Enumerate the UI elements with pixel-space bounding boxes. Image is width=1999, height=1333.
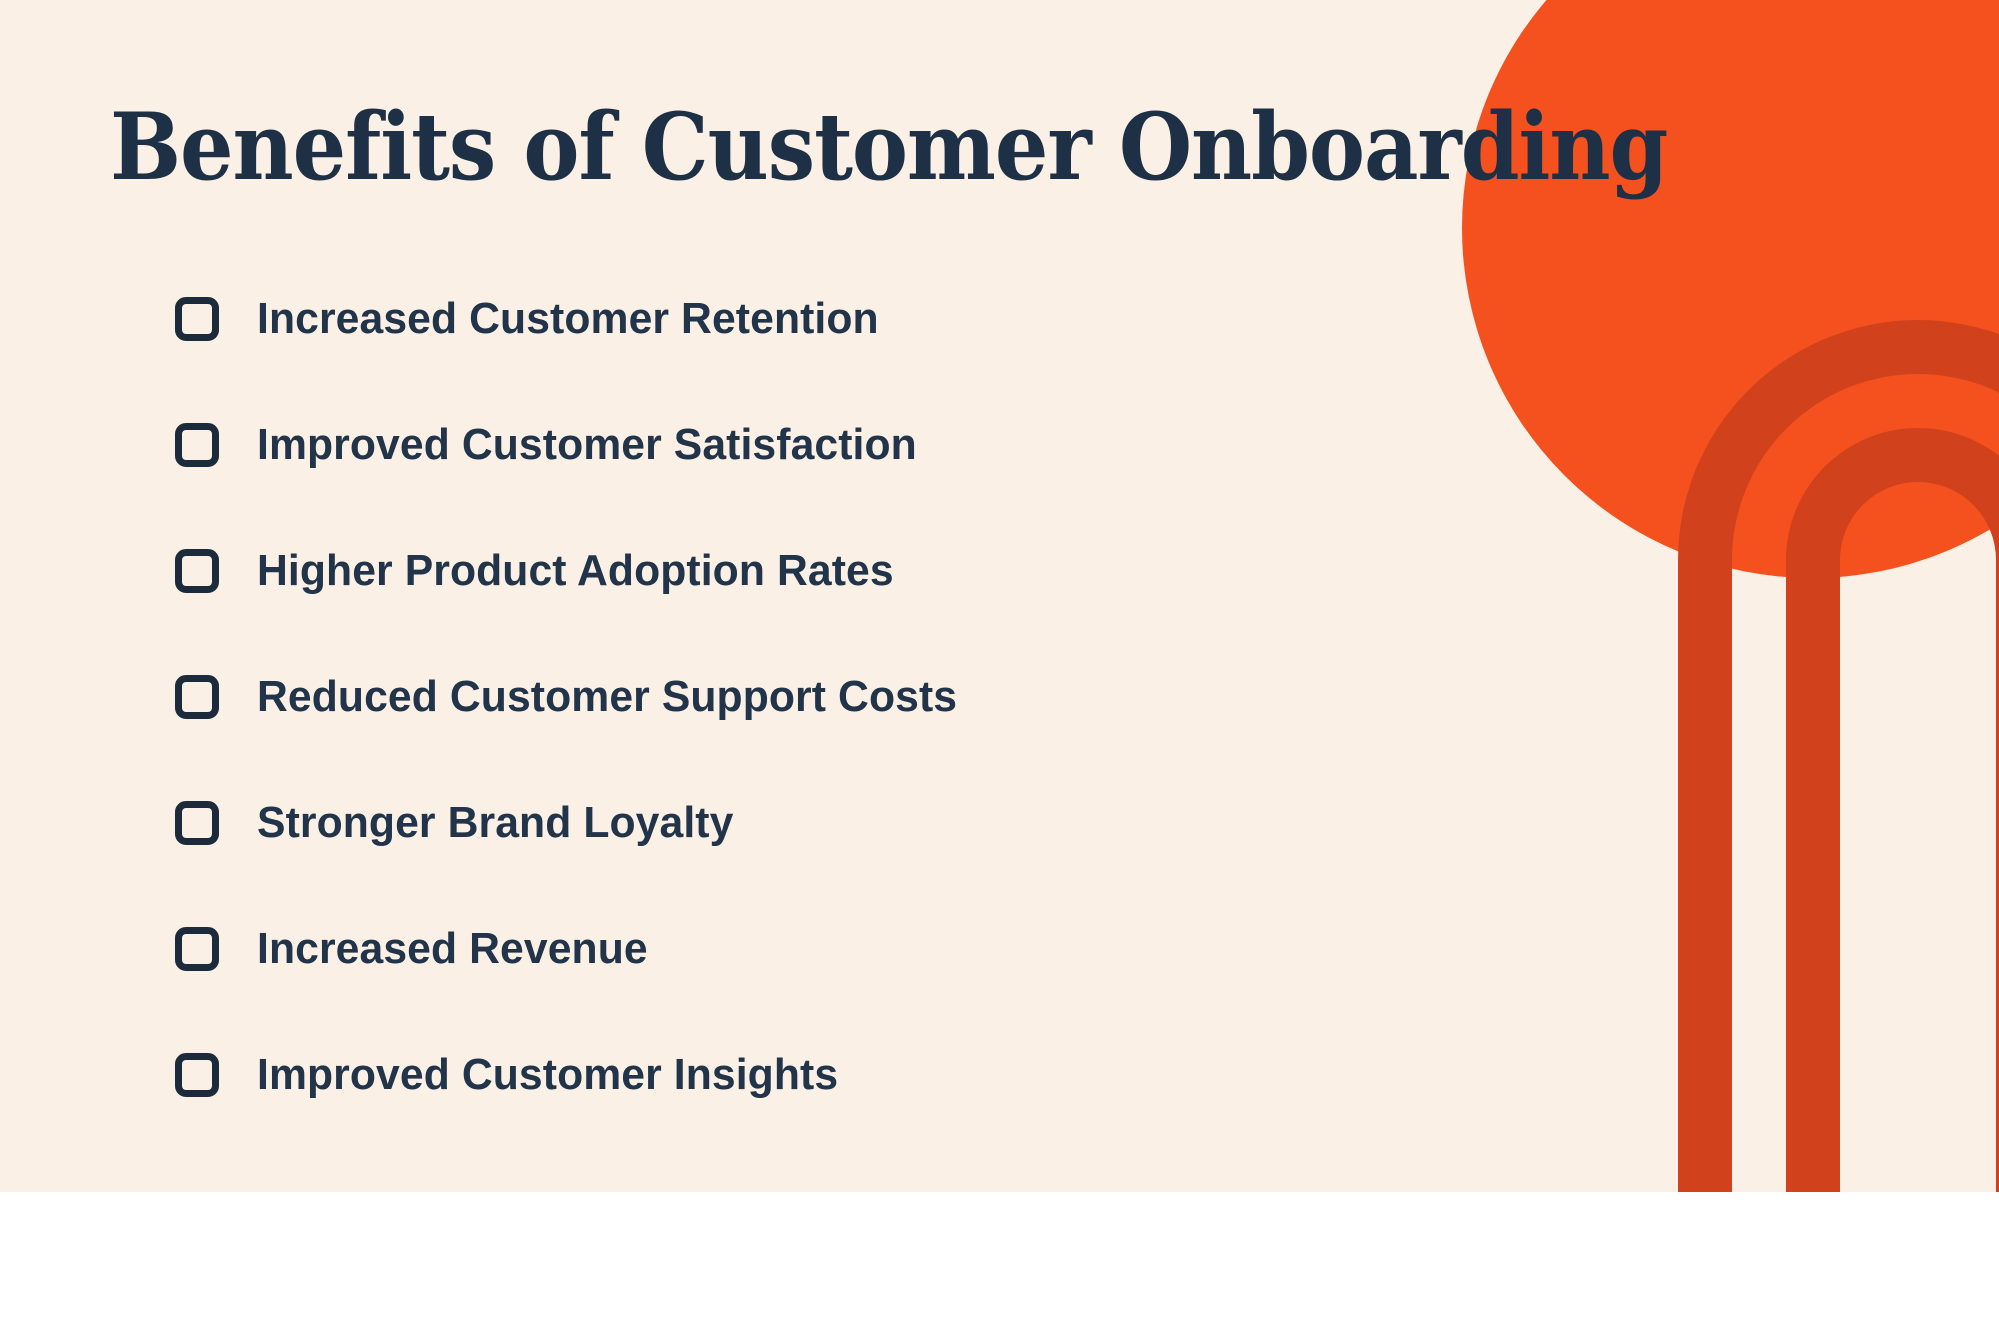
decor-arch-2 [1786,428,1999,1192]
list-item-label: Improved Customer Satisfaction [257,423,917,467]
slide-body-panel: Benefits of Customer Onboarding Increase… [0,0,1999,1192]
list-item-label: Reduced Customer Support Costs [257,675,957,719]
list-item[interactable]: Improved Customer Satisfaction [175,422,1425,468]
list-item[interactable]: Stronger Brand Loyalty [175,800,1425,846]
checkbox-icon[interactable] [175,1053,219,1097]
list-item[interactable]: Increased Customer Retention [175,296,1425,342]
benefits-checklist: Increased Customer Retention Improved Cu… [175,296,1425,1178]
checkbox-icon[interactable] [175,675,219,719]
checkbox-icon[interactable] [175,549,219,593]
list-item-label: Higher Product Adoption Rates [257,549,894,593]
list-item-label: Improved Customer Insights [257,1053,838,1097]
checkbox-icon[interactable] [175,297,219,341]
list-item-label: Increased Customer Retention [257,297,879,341]
checkbox-icon[interactable] [175,927,219,971]
list-item-label: Increased Revenue [257,927,648,971]
page-title: Benefits of Customer Onboarding [110,98,1667,196]
list-item-label: Stronger Brand Loyalty [257,801,733,845]
checkbox-icon[interactable] [175,801,219,845]
list-item[interactable]: Increased Revenue [175,926,1425,972]
list-item[interactable]: Higher Product Adoption Rates [175,548,1425,594]
decor-arch-1 [1678,320,1999,1192]
slide-footer [0,1192,1999,1333]
checkbox-icon[interactable] [175,423,219,467]
decor-circle [1462,0,1999,578]
list-item[interactable]: Improved Customer Insights [175,1052,1425,1098]
slide-canvas: Benefits of Customer Onboarding Increase… [0,0,1999,1333]
list-item[interactable]: Reduced Customer Support Costs [175,674,1425,720]
